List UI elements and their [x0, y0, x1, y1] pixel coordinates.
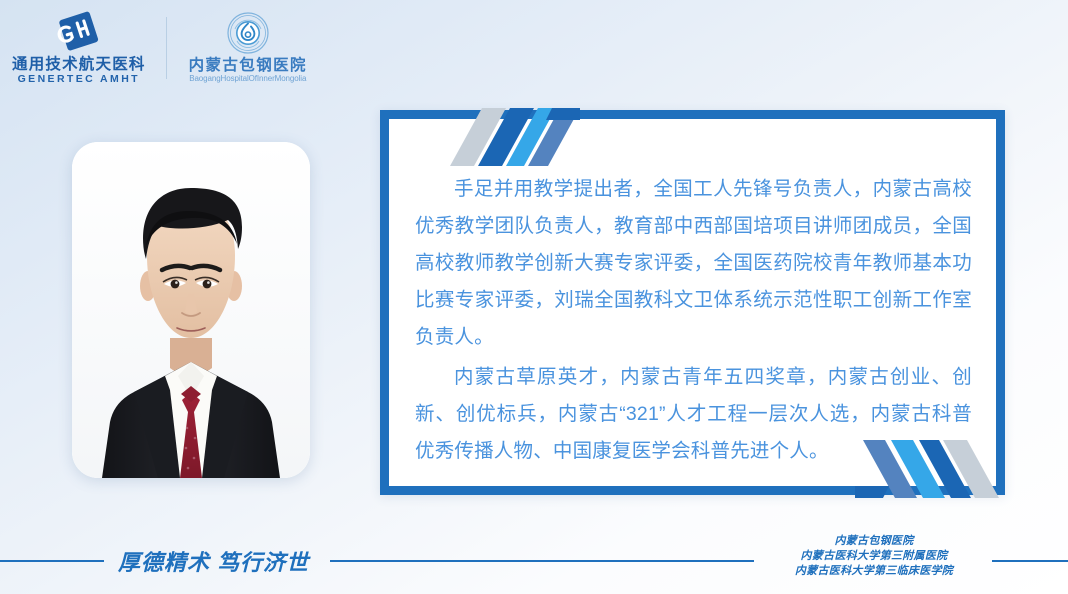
logo-baogang: 内蒙古包钢医院 BaogangHospitalOfInnerMongolia: [189, 11, 307, 84]
genertec-diamond-mark-icon: [52, 10, 106, 54]
logo-genertec-en: GENERTEC AMHT: [18, 73, 140, 86]
footer-hospital-line-3: 内蒙古医科大学第三临床医学院: [766, 564, 982, 579]
content-body: 手足并用教学提出者，全国工人先锋号负责人，内蒙古高校优秀教学团队负责人，教育部中…: [389, 119, 996, 486]
logo-baogang-en: BaogangHospitalOfInnerMongolia: [189, 74, 306, 84]
logo-block: 通用技术航天医科 GENERTEC AMHT: [12, 8, 307, 88]
footer-hospital-line-1: 内蒙古包钢医院: [766, 534, 982, 549]
logo-baogang-cn: 内蒙古包钢医院: [189, 57, 307, 74]
content-paragraph-1: 手足并用教学提出者，全国工人先锋号负责人，内蒙古高校优秀教学团队负责人，教育部中…: [415, 171, 972, 356]
footer-rule-left: [0, 560, 104, 562]
slide-footer: 厚德精术 笃行济世 内蒙古包钢医院 内蒙古医科大学第三附属医院 内蒙古医科大学第…: [0, 520, 1068, 594]
portrait-card: [72, 142, 310, 478]
logo-genertec-cn: 通用技术航天医科: [12, 56, 146, 73]
footer-slogan: 厚德精术 笃行济世: [118, 545, 309, 577]
slide-canvas: 通用技术航天医科 GENERTEC AMHT: [0, 0, 1068, 594]
footer-hospital-names: 内蒙古包钢医院 内蒙古医科大学第三附属医院 内蒙古医科大学第三临床医学院: [766, 534, 982, 579]
doctor-portrait-photo: [72, 142, 310, 478]
baogang-hospital-seal-icon: [226, 11, 270, 55]
footer-rule-middle: [330, 560, 754, 562]
footer-rule-right: [992, 560, 1068, 562]
logo-genertec: 通用技术航天医科 GENERTEC AMHT: [12, 10, 146, 86]
content-paragraph-2: 内蒙古草原英才，内蒙古青年五四奖章，内蒙古创业、创新、创优标兵，内蒙古“321”…: [415, 359, 972, 470]
footer-hospital-line-2: 内蒙古医科大学第三附属医院: [766, 549, 982, 564]
content-frame: 手足并用教学提出者，全国工人先锋号负责人，内蒙古高校优秀教学团队负责人，教育部中…: [380, 110, 1005, 495]
logo-divider: [166, 17, 167, 79]
slide-header: 通用技术航天医科 GENERTEC AMHT: [0, 0, 1068, 96]
